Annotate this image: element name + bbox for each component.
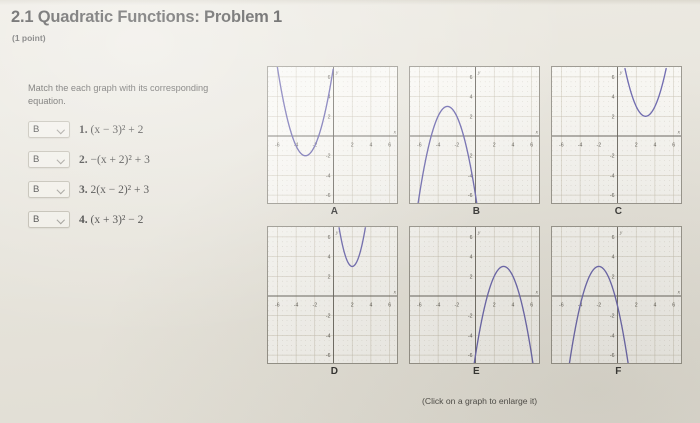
svg-text:-2: -2 [326, 314, 331, 320]
graph-panel-a[interactable]: -6-4-2246642-2-4-6xy [267, 66, 398, 204]
answer-select-4-value: B [33, 214, 39, 225]
equation-1-index: 1. [79, 124, 88, 136]
equation-2-text: −(x + 2)² + 3 [91, 154, 150, 166]
svg-text:2: 2 [493, 303, 496, 309]
svg-text:-6: -6 [468, 353, 473, 359]
svg-text:2: 2 [351, 303, 354, 309]
equation-1-text: (x − 3)² + 2 [91, 124, 144, 136]
svg-text:-6: -6 [559, 303, 564, 309]
svg-text:4: 4 [328, 255, 331, 261]
svg-text:x: x [535, 291, 539, 296]
graph-grid: -6-4-2246642-2-4-6xy A -6-4-2246642-2-4-… [267, 66, 695, 377]
svg-text:-2: -2 [312, 303, 317, 309]
question-panel: Match the each graph with its correspond… [28, 82, 243, 228]
svg-text:6: 6 [612, 75, 615, 81]
svg-text:4: 4 [511, 143, 514, 149]
svg-text:6: 6 [612, 235, 615, 241]
page-title: 2.1 Quadratic Functions: Problem 1 [11, 8, 282, 27]
answer-select-3-value: B [33, 184, 39, 195]
match-row-4: B 4. (x + 3)² − 2 [28, 211, 243, 228]
graph-label-c: C [551, 206, 686, 217]
equation-4: 4. (x + 3)² − 2 [79, 214, 143, 226]
svg-text:2: 2 [493, 143, 496, 149]
svg-text:-2: -2 [326, 154, 331, 160]
match-row-1: B 1. (x − 3)² + 2 [28, 121, 243, 138]
graph-label-b: B [409, 206, 544, 217]
chevron-down-icon [58, 216, 65, 223]
svg-text:-4: -4 [436, 303, 441, 309]
answer-select-2[interactable]: B [28, 151, 70, 168]
answer-select-4[interactable]: B [28, 211, 70, 228]
equation-4-text: (x + 3)² − 2 [91, 214, 144, 226]
graph-row-top: -6-4-2246642-2-4-6xy A -6-4-2246642-2-4-… [267, 66, 695, 217]
svg-text:6: 6 [388, 143, 391, 149]
svg-text:x: x [677, 131, 681, 136]
svg-text:2: 2 [470, 114, 473, 120]
svg-text:6: 6 [530, 143, 533, 149]
graph-cell-b: -6-4-2246642-2-4-6xy B [409, 66, 544, 217]
equation-3: 3. 2(x − 2)² + 3 [79, 184, 149, 196]
svg-text:2: 2 [470, 274, 473, 280]
svg-text:4: 4 [369, 303, 372, 309]
chevron-down-icon [58, 186, 65, 193]
svg-text:x: x [535, 131, 539, 136]
svg-text:-6: -6 [417, 143, 422, 149]
svg-text:4: 4 [612, 95, 615, 101]
svg-text:-2: -2 [468, 314, 473, 320]
svg-text:x: x [393, 131, 397, 136]
svg-text:-2: -2 [454, 143, 459, 149]
graph-label-a: A [267, 206, 402, 217]
graph-panel-e[interactable]: -6-4-2246642-2-4-6xy [409, 226, 540, 364]
svg-text:-6: -6 [559, 143, 564, 149]
answer-select-3[interactable]: B [28, 181, 70, 198]
graph-cell-f: -6-4-2246642-2-4-6xy F [551, 226, 686, 377]
graph-panel-c[interactable]: -6-4-2246642-2-4-6xy [551, 66, 682, 204]
svg-text:-4: -4 [326, 333, 331, 339]
svg-text:4: 4 [653, 143, 656, 149]
graph-label-f: F [551, 366, 686, 377]
graph-label-d: D [267, 366, 402, 377]
svg-text:6: 6 [388, 303, 391, 309]
svg-text:x: x [677, 291, 681, 296]
svg-text:6: 6 [470, 235, 473, 241]
svg-text:x: x [393, 291, 397, 296]
svg-text:2: 2 [351, 143, 354, 149]
svg-text:-4: -4 [610, 333, 615, 339]
point-value: (1 point) [12, 33, 46, 43]
svg-text:-4: -4 [468, 333, 473, 339]
answer-select-2-value: B [33, 154, 39, 165]
svg-text:-6: -6 [417, 303, 422, 309]
equation-3-text: 2(x − 2)² + 3 [91, 184, 150, 196]
svg-text:4: 4 [511, 303, 514, 309]
enlarge-note: (Click on a graph to enlarge it) [422, 396, 537, 406]
graph-row-bottom: -6-4-2246642-2-4-6xy D -6-4-2246642-2-4-… [267, 226, 695, 377]
svg-text:-6: -6 [326, 193, 331, 199]
graph-cell-e: -6-4-2246642-2-4-6xy E [409, 226, 544, 377]
svg-text:6: 6 [328, 235, 331, 241]
svg-text:-6: -6 [610, 193, 615, 199]
svg-text:2: 2 [612, 274, 615, 280]
svg-text:2: 2 [328, 114, 331, 120]
svg-text:-6: -6 [326, 353, 331, 359]
answer-select-1[interactable]: B [28, 121, 70, 138]
svg-text:-4: -4 [294, 303, 299, 309]
equation-2: 2. −(x + 2)² + 3 [79, 154, 150, 166]
svg-text:4: 4 [612, 255, 615, 261]
chevron-down-icon [58, 126, 65, 133]
svg-text:6: 6 [672, 303, 675, 309]
svg-text:-2: -2 [596, 143, 601, 149]
svg-text:4: 4 [470, 255, 473, 261]
equation-3-index: 3. [79, 184, 88, 196]
graph-cell-c: -6-4-2246642-2-4-6xy C [551, 66, 686, 217]
match-row-3: B 3. 2(x − 2)² + 3 [28, 181, 243, 198]
svg-text:6: 6 [530, 303, 533, 309]
svg-text:2: 2 [635, 143, 638, 149]
svg-text:-4: -4 [436, 143, 441, 149]
svg-text:4: 4 [653, 303, 656, 309]
graph-cell-a: -6-4-2246642-2-4-6xy A [267, 66, 402, 217]
svg-text:-4: -4 [326, 173, 331, 179]
chevron-down-icon [58, 156, 65, 163]
svg-text:6: 6 [328, 75, 331, 81]
svg-text:-2: -2 [610, 314, 615, 320]
svg-text:-2: -2 [596, 303, 601, 309]
svg-text:6: 6 [672, 143, 675, 149]
svg-text:2: 2 [328, 274, 331, 280]
page-top-edge [0, 0, 700, 5]
graph-panel-d[interactable]: -6-4-2246642-2-4-6xy [267, 226, 398, 364]
svg-text:4: 4 [369, 143, 372, 149]
svg-text:2: 2 [635, 303, 638, 309]
graph-cell-d: -6-4-2246642-2-4-6xy D [267, 226, 402, 377]
svg-text:2: 2 [612, 114, 615, 120]
svg-text:-6: -6 [275, 143, 280, 149]
graph-label-e: E [409, 366, 544, 377]
svg-text:-6: -6 [468, 193, 473, 199]
graph-panel-b[interactable]: -6-4-2246642-2-4-6xy [409, 66, 540, 204]
svg-text:-6: -6 [610, 353, 615, 359]
svg-text:6: 6 [470, 75, 473, 81]
equation-2-index: 2. [79, 154, 88, 166]
equation-4-index: 4. [79, 214, 88, 226]
svg-text:-4: -4 [610, 173, 615, 179]
question-prompt: Match the each graph with its correspond… [28, 82, 228, 108]
graph-panel-f[interactable]: -6-4-2246642-2-4-6xy [551, 226, 682, 364]
match-row-2: B 2. −(x + 2)² + 3 [28, 151, 243, 168]
answer-select-1-value: B [33, 124, 39, 135]
svg-text:-6: -6 [275, 303, 280, 309]
svg-text:-2: -2 [610, 154, 615, 160]
equation-1: 1. (x − 3)² + 2 [79, 124, 143, 136]
svg-text:4: 4 [470, 95, 473, 101]
svg-text:-2: -2 [454, 303, 459, 309]
svg-text:-4: -4 [578, 143, 583, 149]
